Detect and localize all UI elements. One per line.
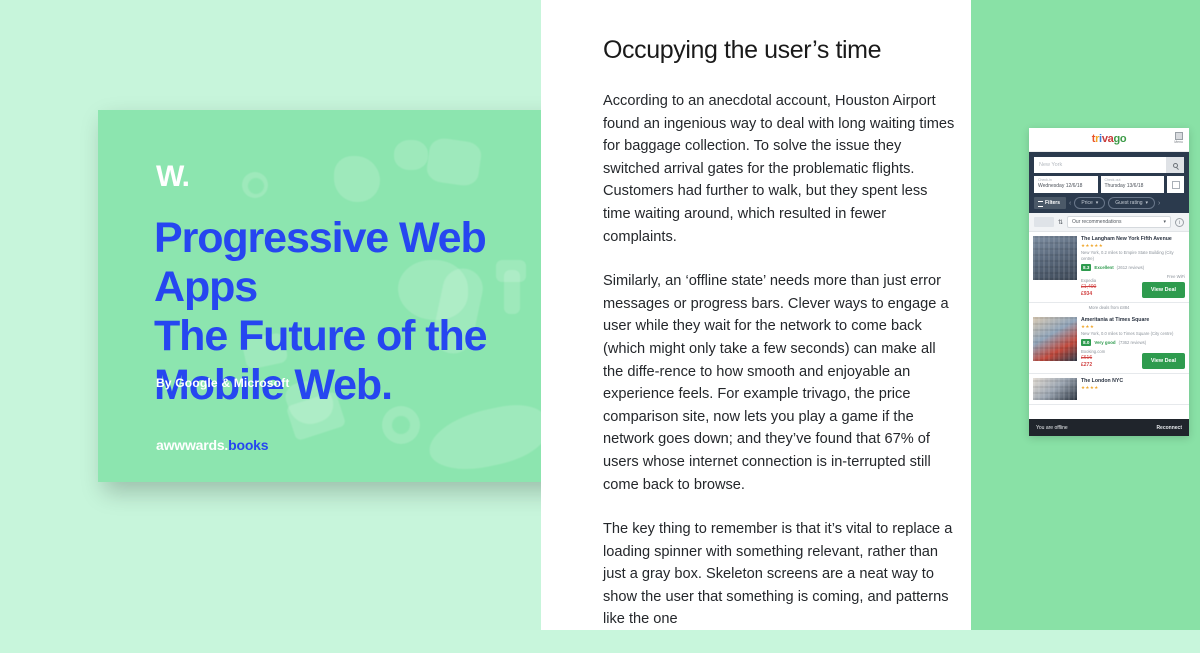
hotel-thumbnail <box>1033 236 1077 280</box>
rating-row: 8.3 Excellent (2612 reviews) <box>1081 264 1185 271</box>
rating-score: 8.0 <box>1081 339 1091 346</box>
book-footer-brand: awwwards.books <box>156 437 268 453</box>
chevron-down-icon: ▾ <box>1096 200 1099 206</box>
slide-canvas: W. Progressive Web Apps The Future of th… <box>0 0 1200 630</box>
trivago-logo: trivago <box>1092 134 1127 145</box>
more-deals-link[interactable]: More deals from £884 <box>1029 303 1189 313</box>
books-wordmark: books <box>228 437 268 453</box>
chevron-left-icon[interactable]: ‹ <box>1069 200 1071 207</box>
destination-search-row[interactable]: New York <box>1034 157 1184 173</box>
view-deal-button[interactable]: View Deal <box>1142 353 1185 369</box>
deal-provider: Expedia <box>1081 278 1096 284</box>
price-current: £272 <box>1081 362 1105 369</box>
filter-row: Filters ‹ Price ▾ Guest rating ▾ › <box>1034 197 1184 209</box>
page-title: Occupying the user’s time <box>603 36 943 65</box>
decor-shape-icon <box>423 398 552 478</box>
app-header: trivago Menu <box>1029 128 1189 152</box>
paragraph: According to an anecdotal account, Houst… <box>603 90 955 248</box>
book-byline: By Google & Microsoft <box>156 376 290 390</box>
deal-perk: Free WiFi <box>1142 274 1185 279</box>
article-page: Occupying the user’s time According to a… <box>541 0 971 630</box>
rating-word: Very good <box>1094 340 1115 345</box>
sort-selected-value: Our recommendations <box>1072 219 1121 225</box>
destination-input[interactable]: New York <box>1034 162 1166 168</box>
sort-icon: ⇅ <box>1058 219 1063 226</box>
left-mint-panel: W. Progressive Web Apps The Future of th… <box>0 0 541 630</box>
decor-shape-icon <box>248 178 264 194</box>
search-panel: New York Check-in Wednesday 12/6/18 Chec… <box>1029 152 1189 213</box>
checkin-value: Wednesday 12/6/18 <box>1038 183 1094 190</box>
hotel-thumbnail <box>1033 317 1077 361</box>
hotel-location: New York, 0.2 miles to Empire State Buil… <box>1081 250 1185 262</box>
sort-select[interactable]: Our recommendations ▾ <box>1067 216 1171 228</box>
price-filter-label: Price <box>1081 200 1092 206</box>
chevron-down-icon: ▾ <box>1163 219 1166 225</box>
menu-label: Menu <box>1174 141 1183 145</box>
decor-shape-icon <box>334 156 380 202</box>
article-body: According to an anecdotal account, Houst… <box>603 90 955 653</box>
decor-shape-icon <box>394 140 428 170</box>
paragraph: Similarly, an ‘offline state’ needs more… <box>603 270 955 496</box>
decor-shape-icon <box>425 137 483 188</box>
trivago-phone-mockup: trivago Menu New York Check-in Wednesda <box>1029 128 1189 436</box>
filters-button[interactable]: Filters <box>1034 197 1066 209</box>
guest-rating-filter-chip[interactable]: Guest rating ▾ <box>1108 197 1155 209</box>
awwwards-w-logo: W. <box>156 160 189 194</box>
chevron-down-icon: ▾ <box>1146 200 1149 206</box>
hamburger-menu-icon <box>1175 132 1183 140</box>
view-deal-button[interactable]: View Deal <box>1142 282 1185 298</box>
offline-status-bar: You are offline Reconnect <box>1029 419 1189 436</box>
rating-row: 8.0 Very good (7362 reviews) <box>1081 339 1185 346</box>
hotel-thumbnail <box>1033 378 1077 400</box>
deal-row: Booking.com £616 £272 View Deal <box>1081 349 1185 369</box>
checkout-field[interactable]: Check-out Thursday 13/6/18 <box>1101 176 1165 193</box>
star-rating-icon: ★★★★★ <box>1081 243 1185 249</box>
perk-block: View Deal <box>1142 353 1185 369</box>
price-original: £1,400 <box>1081 284 1096 291</box>
calendar-button[interactable] <box>1167 176 1184 193</box>
search-icon <box>1173 163 1178 168</box>
list-item[interactable]: The Langham New York Fifth Avenue ★★★★★ … <box>1029 232 1189 303</box>
calendar-icon <box>1172 181 1180 189</box>
list-item[interactable]: Ameritania at Times Square ★★★ New York,… <box>1029 313 1189 374</box>
right-green-panel: trivago Menu New York Check-in Wednesda <box>971 0 1200 630</box>
price-original: £616 <box>1081 355 1105 362</box>
reconnect-button[interactable]: Reconnect <box>1156 425 1182 431</box>
rating-word: Excellent <box>1094 265 1113 270</box>
listing-details: The London NYC ★★★★ <box>1081 378 1185 400</box>
hotel-name: The Langham New York Fifth Avenue <box>1081 236 1185 243</box>
checkout-value: Thursday 13/6/18 <box>1105 183 1161 190</box>
offline-message: You are offline <box>1036 425 1068 431</box>
rating-count: (2612 reviews) <box>1117 265 1144 270</box>
book-cover: W. Progressive Web Apps The Future of th… <box>98 110 558 482</box>
rating-count: (7362 reviews) <box>1119 340 1146 345</box>
listing-details: Ameritania at Times Square ★★★ New York,… <box>1081 317 1185 369</box>
hotel-location: New York, 0.0 miles to Times Square (Cit… <box>1081 331 1185 337</box>
listing-details: The Langham New York Fifth Avenue ★★★★★ … <box>1081 236 1185 298</box>
sort-bar: ⇅ Our recommendations ▾ i <box>1029 213 1189 232</box>
price-filter-chip[interactable]: Price ▾ <box>1074 197 1105 209</box>
date-row: Check-in Wednesday 12/6/18 Check-out Thu… <box>1034 176 1184 193</box>
price-block: Booking.com £616 £272 <box>1081 349 1105 369</box>
hotel-name: The London NYC <box>1081 378 1185 385</box>
checkin-field[interactable]: Check-in Wednesday 12/6/18 <box>1034 176 1098 193</box>
rating-score: 8.3 <box>1081 264 1091 271</box>
deal-row: Expedia £1,400 £934 Free WiFi View Deal <box>1081 274 1185 298</box>
search-button[interactable] <box>1166 157 1184 173</box>
star-rating-icon: ★★★ <box>1081 324 1185 330</box>
info-icon[interactable]: i <box>1175 218 1184 227</box>
price-current: £934 <box>1081 291 1096 298</box>
perk-block: Free WiFi View Deal <box>1142 274 1185 298</box>
price-block: Expedia £1,400 £934 <box>1081 278 1096 298</box>
star-rating-icon: ★★★★ <box>1081 385 1185 391</box>
decor-shape-icon <box>392 416 410 434</box>
awwwards-wordmark: awwwards. <box>156 437 228 453</box>
map-toggle-button[interactable] <box>1034 217 1054 227</box>
paragraph: The key thing to remember is that it’s v… <box>603 518 955 631</box>
guest-rating-label: Guest rating <box>1115 200 1142 206</box>
chevron-right-icon[interactable]: › <box>1158 200 1160 207</box>
menu-button[interactable]: Menu <box>1174 132 1183 145</box>
hotel-name: Ameritania at Times Square <box>1081 317 1185 324</box>
list-item[interactable]: The London NYC ★★★★ <box>1029 374 1189 405</box>
